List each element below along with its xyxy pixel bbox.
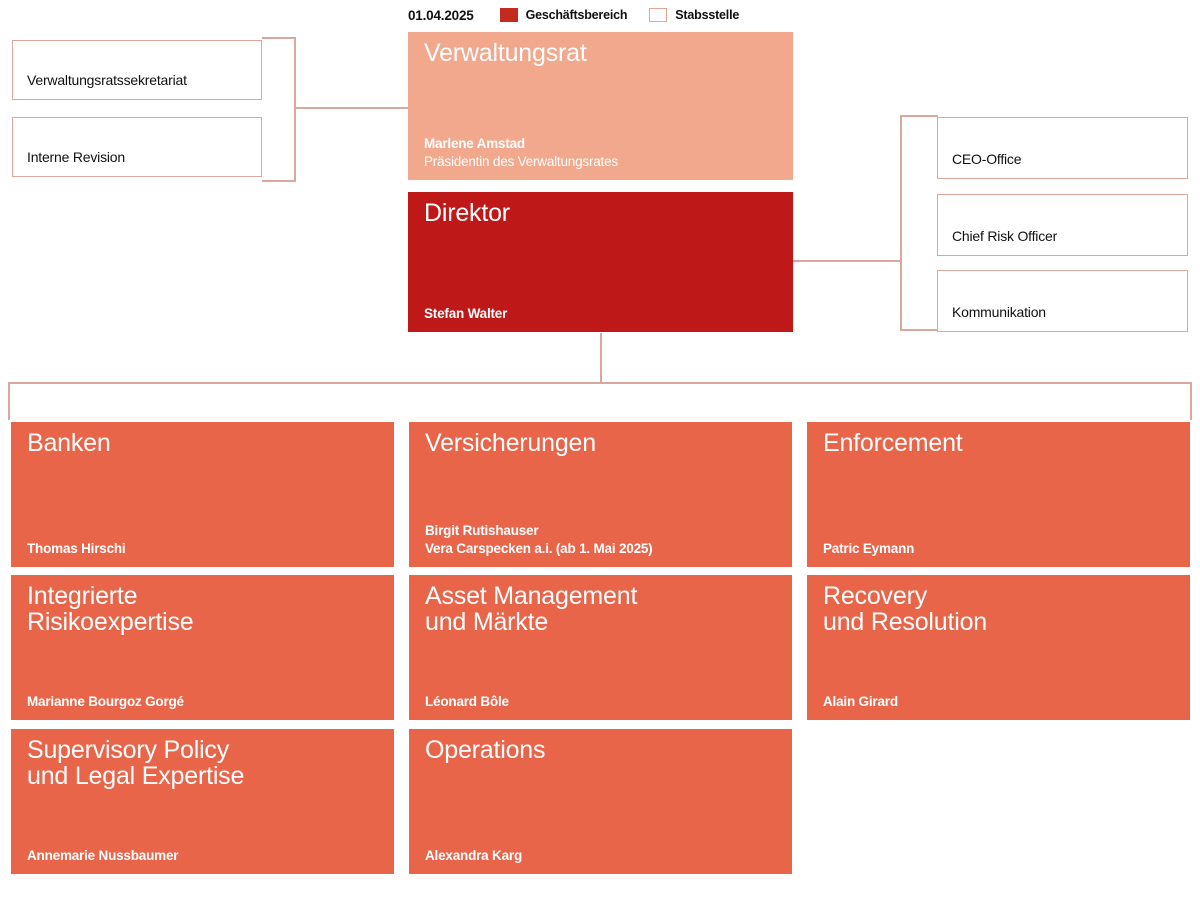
- connector-board-staff-to-board: [294, 107, 408, 109]
- division-title: Supervisory Policy und Legal Expertise: [27, 738, 382, 789]
- division-person: Alexandra Karg: [425, 847, 782, 864]
- division-person: Léonard Bôle: [425, 693, 782, 710]
- staff-box-interne-revision[interactable]: Interne Revision: [12, 117, 262, 177]
- legend-date: 01.04.2025: [408, 8, 474, 23]
- division-person: Vera Carspecken a.i. (ab 1. Mai 2025): [425, 540, 782, 557]
- division-people: Léonard Bôle: [425, 693, 782, 710]
- division-box-integrierte-risikoexpertise[interactable]: Integrierte Risikoexpertise Marianne Bou…: [11, 575, 394, 720]
- director-title: Direktor: [424, 201, 781, 227]
- connector-director-staff-vertical: [900, 115, 902, 330]
- connector-divisions-bus: [8, 382, 1192, 384]
- board-person-name: Marlene Amstad: [424, 135, 783, 152]
- staff-box-ceo-office[interactable]: CEO-Office: [937, 117, 1188, 179]
- legend-label-geschaeftsbereich: Geschäftsbereich: [526, 8, 628, 22]
- board-title: Verwaltungsrat: [424, 41, 781, 67]
- legend-entry-geschaeftsbereich: Geschäftsbereich: [500, 8, 628, 22]
- division-person: Annemarie Nussbaumer: [27, 847, 384, 864]
- division-title: Recovery und Resolution: [823, 584, 1178, 635]
- division-person: Birgit Rutishauser: [425, 522, 782, 539]
- division-people: Patric Eymann: [823, 540, 1180, 557]
- division-box-operations[interactable]: Operations Alexandra Karg: [409, 729, 792, 874]
- legend-entry-stabsstelle: Stabsstelle: [649, 8, 739, 22]
- staff-label: Verwaltungsratssekretariat: [27, 72, 253, 88]
- director-box-direktor[interactable]: Direktor Stefan Walter: [408, 192, 793, 332]
- director-people: Stefan Walter: [424, 305, 783, 322]
- division-box-banken[interactable]: Banken Thomas Hirschi: [11, 422, 394, 567]
- division-people: Birgit Rutishauser Vera Carspecken a.i. …: [425, 522, 782, 557]
- board-box-verwaltungsrat[interactable]: Verwaltungsrat Marlene Amstad Präsidenti…: [408, 32, 793, 180]
- division-people: Marianne Bourgoz Gorgé: [27, 693, 384, 710]
- legend-swatch-filled-icon: [500, 8, 518, 22]
- connector-director-staff-top: [900, 115, 938, 117]
- division-box-versicherungen[interactable]: Versicherungen Birgit Rutishauser Vera C…: [409, 422, 792, 567]
- division-title: Asset Management und Märkte: [425, 584, 780, 635]
- division-people: Alexandra Karg: [425, 847, 782, 864]
- staff-label: Kommunikation: [952, 304, 1179, 320]
- division-people: Thomas Hirschi: [27, 540, 384, 557]
- division-people: Annemarie Nussbaumer: [27, 847, 384, 864]
- division-people: Alain Girard: [823, 693, 1180, 710]
- legend: 01.04.2025 Geschäftsbereich Stabsstelle: [408, 4, 761, 26]
- division-person: Marianne Bourgoz Gorgé: [27, 693, 384, 710]
- staff-box-kommunikation[interactable]: Kommunikation: [937, 270, 1188, 332]
- division-person: Alain Girard: [823, 693, 1180, 710]
- division-box-asset-management-und-maerkte[interactable]: Asset Management und Märkte Léonard Bôle: [409, 575, 792, 720]
- division-title: Integrierte Risikoexpertise: [27, 584, 382, 635]
- board-people: Marlene Amstad Präsidentin des Verwaltun…: [424, 135, 783, 170]
- staff-label: Chief Risk Officer: [952, 228, 1179, 244]
- division-title: Versicherungen: [425, 431, 780, 457]
- division-box-supervisory-policy-und-legal-expertise[interactable]: Supervisory Policy und Legal Expertise A…: [11, 729, 394, 874]
- connector-director-staff-bottom: [900, 329, 938, 331]
- division-person: Thomas Hirschi: [27, 540, 384, 557]
- division-title: Operations: [425, 738, 780, 764]
- division-person: Patric Eymann: [823, 540, 1180, 557]
- connector-board-staff-top: [262, 37, 296, 39]
- connector-director-drop: [600, 333, 602, 383]
- staff-box-verwaltungsratssekretariat[interactable]: Verwaltungsratssekretariat: [12, 40, 262, 100]
- director-person-name: Stefan Walter: [424, 305, 783, 322]
- connector-divisions-right-drop: [1190, 382, 1192, 420]
- connector-board-staff-bottom: [262, 180, 296, 182]
- division-box-recovery-und-resolution[interactable]: Recovery und Resolution Alain Girard: [807, 575, 1190, 720]
- staff-box-chief-risk-officer[interactable]: Chief Risk Officer: [937, 194, 1188, 256]
- legend-swatch-outline-icon: [649, 8, 667, 22]
- board-person-role: Präsidentin des Verwaltungsrates: [424, 153, 783, 170]
- division-title: Enforcement: [823, 431, 1178, 457]
- connector-board-staff-vertical: [294, 37, 296, 181]
- division-title: Banken: [27, 431, 382, 457]
- staff-label: CEO-Office: [952, 151, 1179, 167]
- org-chart: 01.04.2025 Geschäftsbereich Stabsstelle …: [0, 0, 1200, 912]
- connector-director-to-staff: [793, 260, 901, 262]
- legend-label-stabsstelle: Stabsstelle: [675, 8, 739, 22]
- division-box-enforcement[interactable]: Enforcement Patric Eymann: [807, 422, 1190, 567]
- connector-divisions-left-drop: [8, 382, 10, 420]
- staff-label: Interne Revision: [27, 149, 253, 165]
